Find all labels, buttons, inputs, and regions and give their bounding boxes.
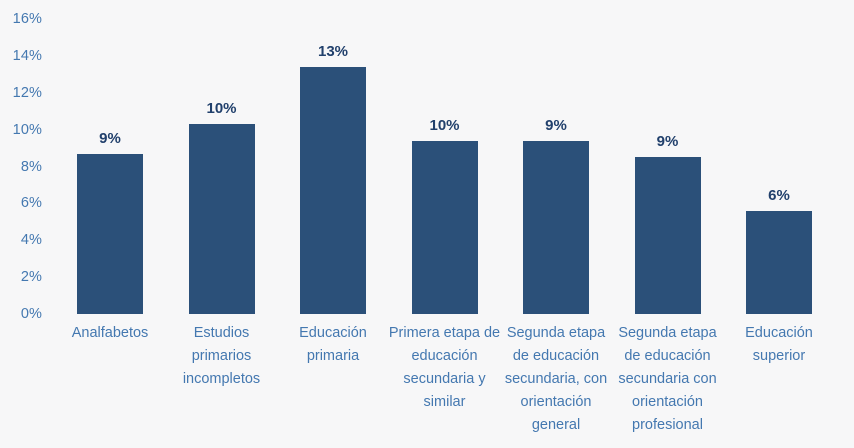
bar-value-label: 9% <box>635 133 701 150</box>
bar[interactable] <box>746 211 812 314</box>
x-axis-category-labels: AnalfabetosEstudios primarios incompleto… <box>48 322 854 448</box>
y-axis: 0%2%4%6%8%10%12%14%16% <box>0 0 48 448</box>
x-axis-category-label: Analfabetos <box>54 322 166 345</box>
y-axis-tick-label: 14% <box>13 48 42 64</box>
x-axis-category-label: Educación superior <box>723 322 835 368</box>
bar-group: 10% <box>412 0 478 314</box>
x-axis-category-label: Educación primaria <box>277 322 389 368</box>
bar-group: 13% <box>300 0 366 314</box>
y-axis-tick-label: 4% <box>21 232 42 248</box>
x-axis-category-label: Segunda etapa de educación secundaria, c… <box>500 322 612 437</box>
bar[interactable] <box>412 141 478 314</box>
bar-value-label: 6% <box>746 187 812 204</box>
y-axis-tick-label: 12% <box>13 85 42 101</box>
bar[interactable] <box>300 67 366 314</box>
bar-value-label: 13% <box>300 43 366 60</box>
x-axis-category-label: Segunda etapa de educación secundaria co… <box>612 322 724 437</box>
bar[interactable] <box>77 154 143 314</box>
bar[interactable] <box>523 141 589 314</box>
plot-area: 9%10%13%10%9%9%6% <box>48 0 854 314</box>
y-axis-tick-label: 0% <box>21 306 42 322</box>
y-axis-tick-label: 16% <box>13 11 42 27</box>
bar[interactable] <box>189 124 255 314</box>
y-axis-tick-label: 10% <box>13 122 42 138</box>
y-axis-tick-label: 6% <box>21 195 42 211</box>
bar-group: 6% <box>746 0 812 314</box>
bar-group: 9% <box>635 0 701 314</box>
x-axis-category-label: Estudios primarios incompletos <box>166 322 278 391</box>
bar[interactable] <box>635 157 701 314</box>
y-axis-tick-label: 8% <box>21 159 42 175</box>
bar-chart: 0%2%4%6%8%10%12%14%16% 9%10%13%10%9%9%6%… <box>0 0 854 448</box>
bar-value-label: 10% <box>412 117 478 134</box>
bar-value-label: 9% <box>77 130 143 147</box>
y-axis-tick-label: 2% <box>21 269 42 285</box>
bar-group: 10% <box>189 0 255 314</box>
bar-value-label: 10% <box>189 100 255 117</box>
bar-group: 9% <box>77 0 143 314</box>
bar-group: 9% <box>523 0 589 314</box>
bar-value-label: 9% <box>523 117 589 134</box>
x-axis-category-label: Primera etapa de educación secundaria y … <box>389 322 501 414</box>
